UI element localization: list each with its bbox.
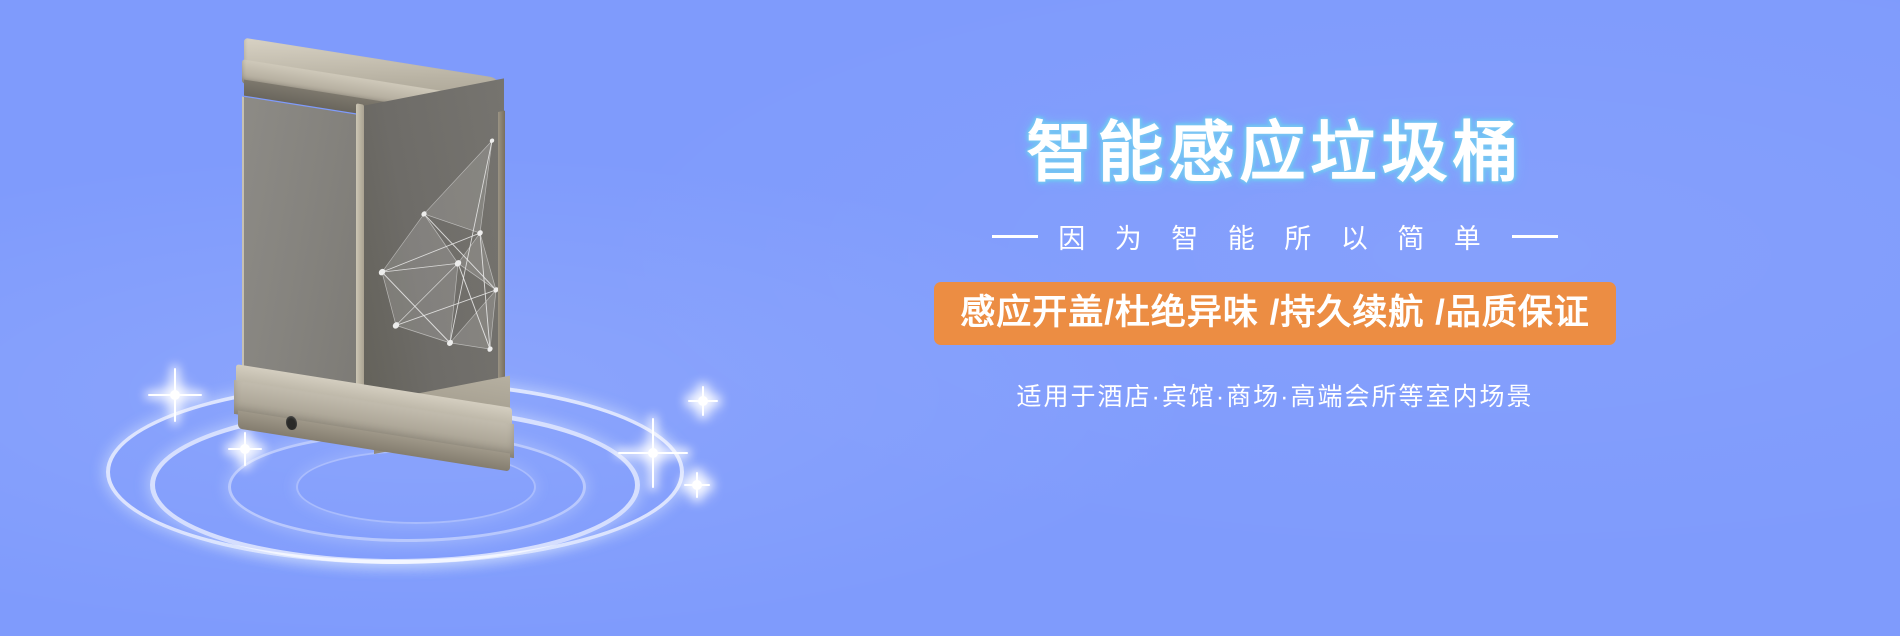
usage-scenes: 适用于酒店·宾馆·商场·高端会所等室内场景 bbox=[860, 377, 1690, 413]
subheadline-text: 因 为 智 能 所 以 简 单 bbox=[1058, 217, 1492, 256]
marketing-copy: 智能感应垃圾桶 因 为 智 能 所 以 简 单 感应开盖/杜绝异味 /持久续航 … bbox=[860, 118, 1690, 413]
rule-left-icon bbox=[992, 235, 1038, 238]
smart-trash-bin: UF 智 能 环 保 桶 SMART SENSOR DUSTBIN CO., L… bbox=[234, 50, 534, 450]
headline: 智能感应垃圾桶 bbox=[860, 118, 1690, 187]
feature-badge-wrapper: 感应开盖/杜绝异味 /持久续航 /品质保证 bbox=[860, 256, 1690, 345]
rule-right-icon bbox=[1512, 235, 1558, 238]
subheadline: 因 为 智 能 所 以 简 单 bbox=[860, 217, 1690, 256]
product-image: UF 智 能 环 保 桶 SMART SENSOR DUSTBIN CO., L… bbox=[88, 40, 728, 560]
promo-banner: UF 智 能 环 保 桶 SMART SENSOR DUSTBIN CO., L… bbox=[0, 0, 1900, 636]
bin-far-edge bbox=[498, 111, 505, 412]
network-polygon-graphic bbox=[362, 78, 504, 424]
bin-corner-edge bbox=[356, 103, 364, 416]
bin-side-panel bbox=[362, 78, 504, 424]
feature-badge: 感应开盖/杜绝异味 /持久续航 /品质保证 bbox=[934, 282, 1616, 345]
